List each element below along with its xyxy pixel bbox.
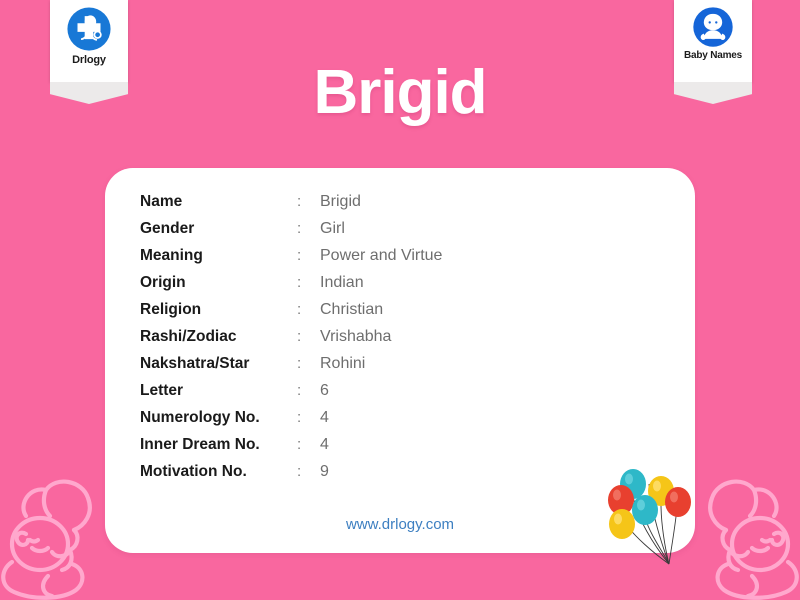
table-row: Name : Brigid (140, 193, 442, 220)
row-value: 4 (320, 436, 329, 454)
row-label: Religion (140, 301, 297, 319)
table-row: Gender : Girl (140, 220, 442, 247)
table-row: Nakshatra/Star : Rohini (140, 355, 442, 382)
row-value: Vrishabha (320, 328, 391, 346)
row-value: Power and Virtue (320, 247, 442, 265)
corner-art-left (0, 470, 108, 600)
row-value: 9 (320, 463, 329, 481)
row-label: Inner Dream No. (140, 436, 297, 454)
table-row: Letter : 6 (140, 382, 442, 409)
row-label: Meaning (140, 247, 297, 265)
category-badge-tail (674, 82, 752, 104)
table-row: Origin : Indian (140, 274, 442, 301)
name-details-table: Name : Brigid Gender : Girl Meaning : Po… (140, 193, 442, 490)
table-row: Motivation No. : 9 (140, 463, 442, 490)
table-row: Numerology No. : 4 (140, 409, 442, 436)
row-value: Christian (320, 301, 383, 319)
table-row: Religion : Christian (140, 301, 442, 328)
row-separator: : (297, 193, 320, 210)
row-separator: : (297, 220, 320, 237)
row-separator: : (297, 328, 320, 345)
row-label: Letter (140, 382, 297, 400)
row-separator: : (297, 301, 320, 318)
category-badge-body: Baby Names (674, 0, 752, 82)
row-value: Rohini (320, 355, 365, 373)
row-separator: : (297, 409, 320, 426)
row-value: Indian (320, 274, 364, 292)
drlogy-medical-cross-icon (66, 6, 112, 52)
brand-badge-drlogy[interactable]: Drlogy (50, 0, 128, 104)
row-value: Girl (320, 220, 345, 238)
table-row: Rashi/Zodiac : Vrishabha (140, 328, 442, 355)
row-separator: : (297, 382, 320, 399)
row-label: Gender (140, 220, 297, 238)
brand-badge-tail (50, 82, 128, 104)
row-separator: : (297, 247, 320, 264)
table-row: Meaning : Power and Virtue (140, 247, 442, 274)
brand-badge-label: Drlogy (72, 54, 106, 66)
row-separator: : (297, 463, 320, 480)
baby-icon (692, 6, 734, 48)
row-value: 6 (320, 382, 329, 400)
row-label: Rashi/Zodiac (140, 328, 297, 346)
row-label: Nakshatra/Star (140, 355, 297, 373)
website-link[interactable]: www.drlogy.com (105, 516, 695, 533)
balloons-illustration (603, 448, 713, 566)
row-label: Origin (140, 274, 297, 292)
row-value: 4 (320, 409, 329, 427)
name-details-card: Name : Brigid Gender : Girl Meaning : Po… (105, 168, 695, 553)
brand-badge-body: Drlogy (50, 0, 128, 82)
row-label: Numerology No. (140, 409, 297, 427)
row-separator: : (297, 355, 320, 372)
table-row: Inner Dream No. : 4 (140, 436, 442, 463)
category-badge-label: Baby Names (684, 50, 742, 61)
row-separator: : (297, 274, 320, 291)
row-value: Brigid (320, 193, 361, 211)
category-badge-baby-names[interactable]: Baby Names (674, 0, 752, 104)
row-label: Motivation No. (140, 463, 297, 481)
row-separator: : (297, 436, 320, 453)
row-label: Name (140, 193, 297, 211)
